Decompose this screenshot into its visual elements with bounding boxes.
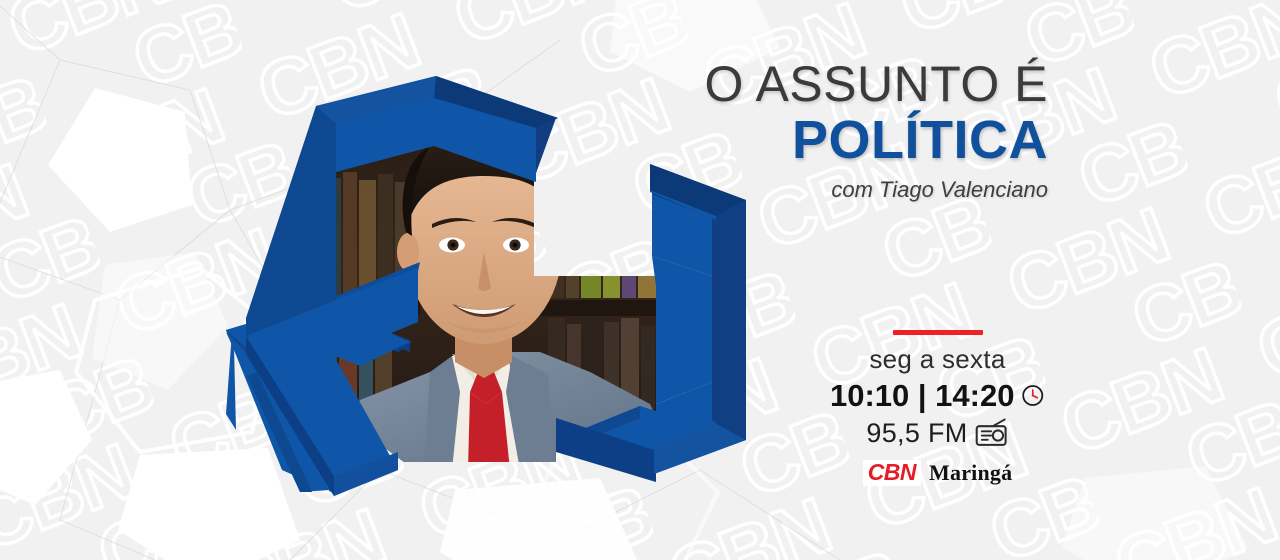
broadcast-days: seg a sexta — [830, 345, 1045, 374]
frequency-label: 95,5 FM — [866, 418, 967, 449]
schedule-block: seg a sexta 10:10 | 14:20 95,5 FM CBN M — [830, 330, 1045, 486]
clock-icon — [1021, 382, 1045, 409]
headline-subtitle: com Tiago Valenciano — [600, 177, 1048, 203]
cbn-program-banner: CBN CBN — [0, 0, 1280, 560]
frequency-row: 95,5 FM — [830, 418, 1045, 449]
accent-rule — [893, 330, 983, 335]
headline-line2: POLÍTICA — [600, 112, 1048, 169]
cbn-logo-text: CBN — [863, 460, 921, 486]
radio-icon — [975, 418, 1009, 448]
station-logo: CBN Maringá — [830, 460, 1045, 486]
city-name: Maringá — [929, 462, 1012, 484]
headline-line1: O ASSUNTO É — [600, 58, 1048, 110]
broadcast-times-row: 10:10 | 14:20 — [830, 378, 1045, 414]
program-headline: O ASSUNTO É POLÍTICA com Tiago Valencian… — [600, 58, 1048, 203]
broadcast-times: 10:10 | 14:20 — [830, 378, 1014, 414]
